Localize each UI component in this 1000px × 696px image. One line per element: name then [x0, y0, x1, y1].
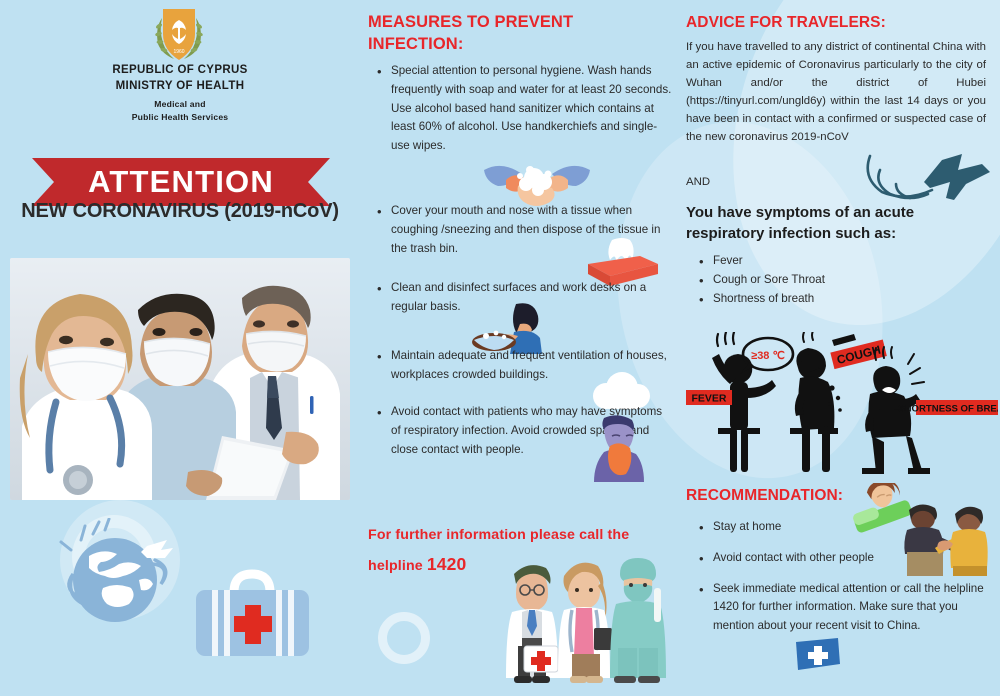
org-line-1: REPUBLIC OF CYPRUS — [0, 62, 360, 78]
travel-advice-paragraph: If you have travelled to any district of… — [686, 38, 986, 146]
measures-heading-line-1: MEASURES TO PREVENT — [368, 12, 668, 34]
right-column: ADVICE FOR TRAVELERS: If you have travel… — [686, 0, 1000, 696]
measure-list-1: Special attention to personal hygiene. W… — [374, 62, 674, 156]
banner-label: ATTENTION — [32, 158, 330, 206]
measures-heading: MEASURES TO PREVENT INFECTION: — [368, 12, 668, 56]
list-item: Cough or Sore Throat — [696, 271, 976, 290]
breath-label: SHORTNESS OF BREATH — [898, 404, 998, 415]
page-title: NEW CORONAVIRUS (2019-nCoV) — [0, 200, 360, 223]
organization-title: REPUBLIC OF CYPRUS MINISTRY OF HEALTH — [0, 62, 360, 95]
org-line-2: MINISTRY OF HEALTH — [0, 78, 360, 94]
left-column: 1960 REPUBLIC OF CYPRUS — [0, 0, 360, 696]
travelers-heading: ADVICE FOR TRAVELERS: — [686, 14, 886, 32]
symptoms-heading: You have symptoms of an acute respirator… — [686, 202, 976, 245]
temperature-label: ≥38 ℃ — [751, 350, 785, 362]
org-sub-line-2: Public Health Services — [0, 111, 360, 124]
list-item: Fever — [696, 252, 976, 271]
list-item: Shortness of breath — [696, 290, 976, 309]
list-item: Seek immediate medical attention or call… — [696, 580, 984, 636]
medical-team-icon — [506, 552, 666, 684]
helpline-number: 1420 — [427, 554, 467, 574]
organization-subtitle: Medical and Public Health Services — [0, 98, 360, 124]
helpline-line-1: For further information please call the — [368, 522, 672, 548]
recommendation-heading: RECOMMENDATION: — [686, 487, 843, 505]
and-connector: AND — [686, 176, 710, 188]
medical-staff-photo — [10, 258, 350, 500]
medical-bag-icon — [190, 562, 315, 662]
helpline-prefix: helpline — [368, 558, 427, 574]
list-item: Special attention to personal hygiene. W… — [374, 62, 674, 156]
symptom-stick-figures-icon: ≥38 ℃ FEVER — [686, 332, 998, 474]
symptoms-heading-line-2: respiratory infection such as: — [686, 223, 976, 244]
org-sub-line-1: Medical and — [0, 98, 360, 111]
two-people-handshake-icon — [901, 502, 989, 576]
poster-root: 1960 REPUBLIC OF CYPRUS — [0, 0, 1000, 696]
airplane-icon — [866, 150, 992, 208]
svg-text:1960: 1960 — [173, 49, 184, 55]
middle-column: MEASURES TO PREVENT INFECTION: Special a… — [366, 0, 678, 696]
symptom-list: Fever Cough or Sore Throat Shortness of … — [696, 252, 976, 308]
fever-label: FEVER — [691, 393, 726, 405]
symptoms-heading-line-1: You have symptoms of an acute — [686, 202, 976, 223]
measures-heading-line-2: INFECTION: — [368, 34, 668, 56]
surface-cleaning-icon — [470, 298, 554, 354]
person-sneezing-icon — [586, 412, 650, 482]
attention-banner: ATTENTION — [32, 158, 330, 206]
globe-with-airplane-icon — [55, 518, 185, 648]
cyprus-coat-of-arms-icon: 1960 — [148, 6, 210, 64]
first-aid-cross-flag-icon — [794, 636, 842, 672]
